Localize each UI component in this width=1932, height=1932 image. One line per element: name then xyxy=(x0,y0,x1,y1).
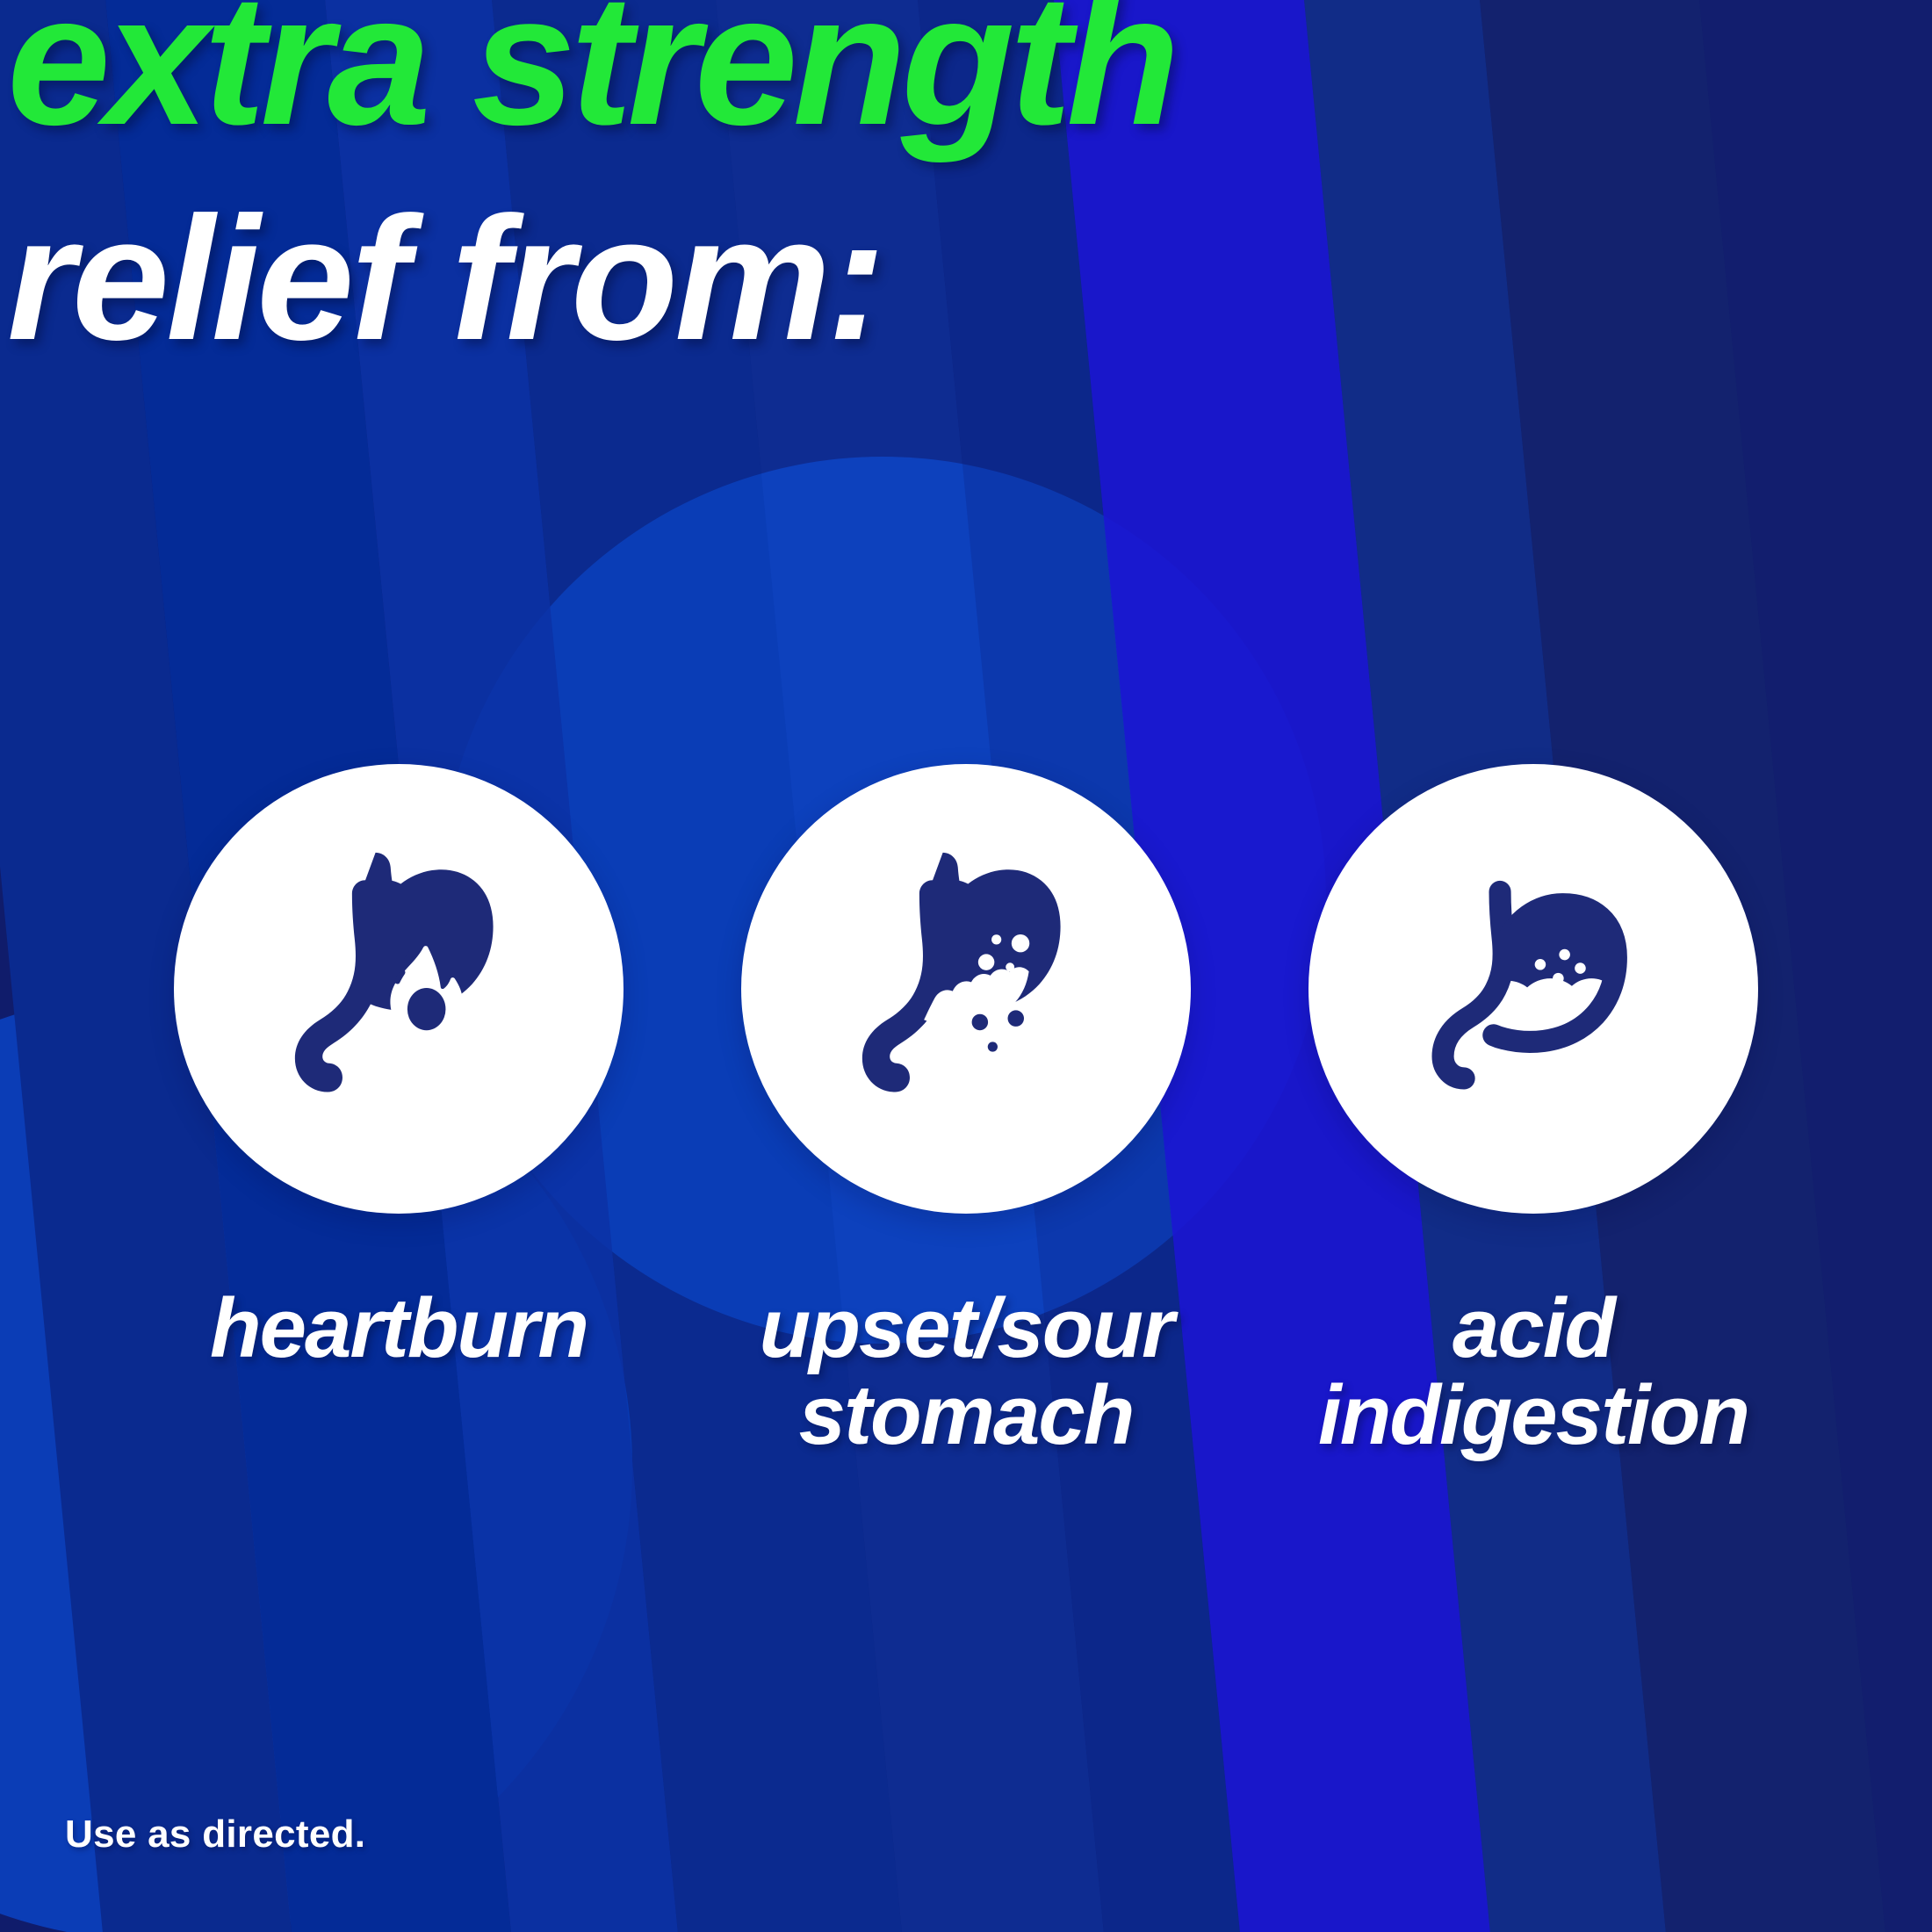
promo-graphic: extra strength relief from: heartburn xyxy=(0,0,1932,1932)
disclaimer-text: Use as directed. xyxy=(65,1813,365,1856)
stomach-bubbles-icon xyxy=(821,844,1111,1134)
benefit-acid-indigestion[interactable]: acid indigestion xyxy=(1287,764,1779,1460)
headline-primary: extra strength xyxy=(7,0,1932,149)
benefit-heartburn[interactable]: heartburn xyxy=(153,764,645,1373)
icon-circle-acid-indigestion xyxy=(1308,764,1758,1214)
stomach-dots-icon xyxy=(1388,844,1678,1134)
benefit-icon-row: heartburn upset/sour stomach xyxy=(0,764,1932,1460)
icon-circle-upset-stomach xyxy=(741,764,1191,1214)
headline-block: extra strength relief from: xyxy=(0,0,1932,364)
icon-circle-heartburn xyxy=(174,764,624,1214)
stomach-flame-icon xyxy=(254,844,544,1134)
headline-secondary: relief from: xyxy=(7,195,1932,364)
benefit-label-acid-indigestion: acid indigestion xyxy=(1318,1286,1748,1460)
benefit-label-upset-sour-stomach: upset/sour stomach xyxy=(760,1286,1173,1460)
benefit-upset-sour-stomach[interactable]: upset/sour stomach xyxy=(720,764,1212,1460)
benefit-label-heartburn: heartburn xyxy=(210,1286,588,1373)
